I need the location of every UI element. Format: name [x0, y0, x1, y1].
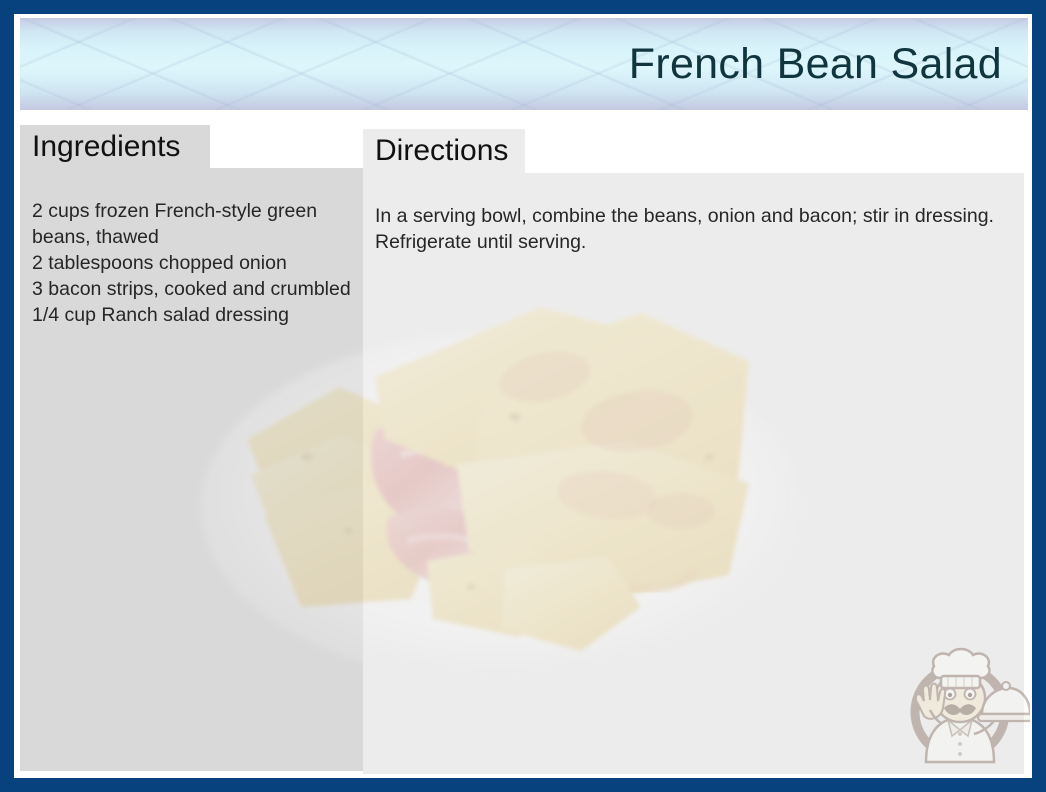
ingredients-heading: Ingredients: [32, 132, 180, 162]
directions-text: In a serving bowl, combine the beans, on…: [375, 203, 1012, 255]
page-title: French Bean Salad: [629, 43, 1028, 86]
directions-body: In a serving bowl, combine the beans, on…: [363, 173, 1024, 774]
directions-heading: Directions: [375, 136, 508, 166]
recipe-card: French Bean Salad Ingredients 2 cups fro…: [0, 0, 1046, 792]
title-banner: French Bean Salad: [20, 18, 1028, 110]
ingredients-body: 2 cups frozen French-style green beans, …: [20, 168, 363, 771]
card-surface: French Bean Salad Ingredients 2 cups fro…: [14, 14, 1032, 778]
directions-tab: Directions: [363, 129, 525, 173]
ingredients-list: 2 cups frozen French-style green beans, …: [32, 198, 351, 328]
content-panels: Ingredients 2 cups frozen French-style g…: [14, 124, 1032, 778]
list-item: 2 tablespoons chopped onion: [32, 250, 351, 276]
directions-panel: Directions In a serving bowl, combine th…: [363, 124, 1024, 778]
list-item: 1/4 cup Ranch salad dressing: [32, 302, 351, 328]
list-item: 2 cups frozen French-style green beans, …: [32, 198, 351, 250]
ingredients-tab: Ingredients: [20, 125, 210, 169]
ingredients-panel: Ingredients 2 cups frozen French-style g…: [20, 124, 363, 778]
list-item: 3 bacon strips, cooked and crumbled: [32, 276, 351, 302]
